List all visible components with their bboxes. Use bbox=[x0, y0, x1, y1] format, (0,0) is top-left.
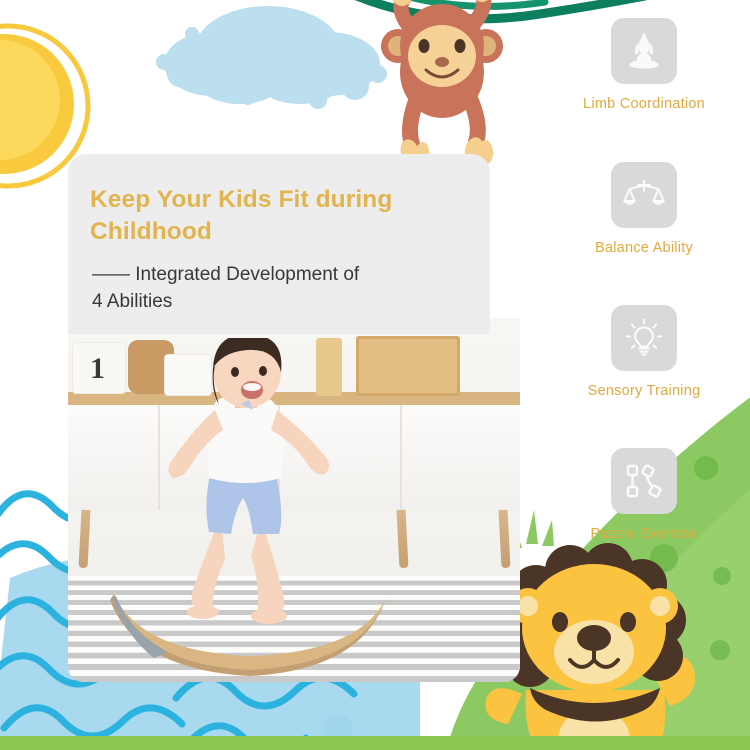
dumbbell-icon bbox=[611, 448, 677, 514]
page-title: Keep Your Kids Fit during Childhood bbox=[90, 184, 460, 249]
child-on-board bbox=[153, 338, 353, 638]
cloud-icon bbox=[140, 4, 410, 124]
feature-label: Sensory Training bbox=[538, 383, 750, 399]
basket-number: 1 bbox=[90, 352, 105, 386]
wooden-crate bbox=[356, 336, 460, 396]
balance-scale-icon bbox=[611, 162, 677, 228]
feature-item-sensory-training[interactable]: Sensory Training bbox=[538, 305, 750, 399]
monkey-icon bbox=[368, 0, 548, 169]
feature-item-limb-coordination[interactable]: Limb Coordination bbox=[538, 18, 750, 112]
page-subtitle: —— Integrated Development of 4 Abilities bbox=[90, 262, 490, 316]
feature-list: Limb Coordination Balance Ability bbox=[538, 0, 750, 750]
yoga-pose-icon bbox=[611, 18, 677, 84]
feature-item-balance-ability[interactable]: Balance Ability bbox=[538, 162, 750, 256]
feature-label: Limb Coordination bbox=[538, 96, 750, 112]
promo-banner: Keep Your Kids Fit during Childhood —— I… bbox=[0, 0, 750, 750]
promo-card: Keep Your Kids Fit during Childhood —— I… bbox=[68, 154, 490, 334]
feature-label: Balance Ability bbox=[538, 240, 750, 256]
product-photo: 1 bbox=[68, 318, 520, 682]
feature-item-puzzle-exercise[interactable]: Puzzle Exercise bbox=[538, 448, 750, 542]
feature-label: Puzzle Exercise bbox=[538, 526, 750, 542]
lightbulb-icon bbox=[611, 305, 677, 371]
